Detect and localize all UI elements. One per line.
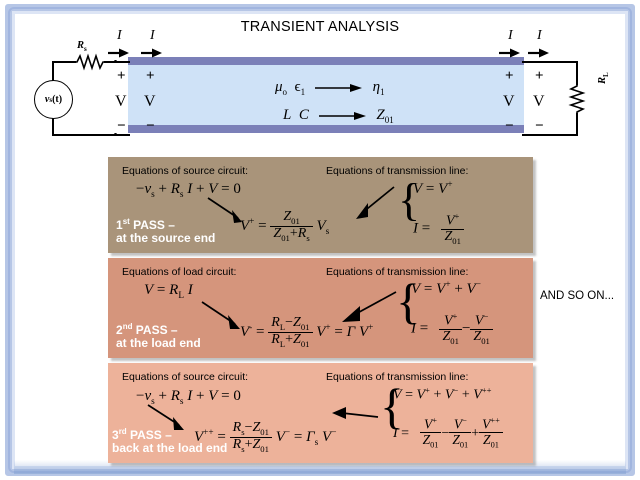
- polarity-plus-load: +: [535, 68, 544, 85]
- slide-canvas: TRANSIENT ANALYSIS Rs vs(t): [0, 0, 640, 480]
- circuit-diagram: Rs vs(t) RL I I I: [0, 0, 640, 155]
- pass-1-result-equation: V+ = Z01 Z01+Rs Vs: [240, 210, 329, 243]
- voltage-label-load: V: [533, 93, 545, 111]
- polarity-minus-load: −: [535, 118, 544, 135]
- current-label-load-2: I: [537, 28, 542, 44]
- voltage-label-line-left: V: [144, 93, 156, 111]
- polarity-minus-source-inner: −: [117, 118, 126, 135]
- pass-2-tl-equation-2: I = V+ Z01 − V− Z01: [411, 312, 493, 346]
- pass-3-header-left: Equations of source circuit:: [122, 371, 248, 383]
- pass-2-tl-equation-1: V = V+ + V−: [411, 280, 481, 298]
- polarity-plus-source-inner: +: [117, 68, 126, 85]
- series-resistor-symbol: [74, 53, 108, 71]
- pass-3-result-equation: V++ = Rs−Z01 Rs+Z01 V− = Γs V−: [194, 421, 336, 454]
- wire-source-to-resistor: [52, 61, 76, 63]
- wire-load-top-vertical: [576, 61, 578, 85]
- pass-1-label: 1st PASS – at the source end: [116, 215, 215, 245]
- pass-1-tl-equation-1: V = V+: [413, 180, 453, 198]
- voltage-label-source-inner: V: [115, 93, 127, 111]
- pass-3-kvl-equation: −vs + Rs I + V = 0: [136, 388, 241, 407]
- pass-1-panel: Equations of source circuit: Equations o…: [108, 157, 533, 253]
- pass-2-panel: Equations of load circuit: Equations of …: [108, 258, 533, 358]
- current-arrow-source-1: [108, 47, 130, 59]
- node-dot-source-top: [114, 60, 117, 63]
- pass-1-kvl-equation: −vs + Rs I + V = 0: [136, 181, 241, 200]
- pass-2-label: 2nd PASS – at the load end: [116, 320, 201, 350]
- wire-line-to-load-top: [522, 61, 578, 63]
- pass-1-tl-equation-2: I = V+ Z01: [413, 212, 464, 246]
- arrow-right-icon: [319, 111, 367, 121]
- medium-parameters-row-2: L C Z01: [283, 107, 394, 125]
- polarity-plus-line-left: +: [146, 68, 155, 85]
- voltage-source-symbol: vs(t): [34, 80, 73, 119]
- current-arrow-load-2: [528, 47, 550, 59]
- pass-1-header-left: Equations of source circuit:: [122, 165, 248, 177]
- current-label-source-2: I: [150, 28, 155, 44]
- pass-1-arrow-right: [354, 187, 396, 221]
- pass-2-header-left: Equations of load circuit:: [122, 266, 236, 278]
- pass-2-result-equation: V- = RL−Z01 RL+Z01 V+ = Γ V+: [240, 316, 373, 349]
- medium-parameters-row-1: μo ϵ1 η1: [275, 79, 385, 97]
- series-resistor-label: Rs: [77, 40, 87, 53]
- pass-3-tl-equation-2: I = V+ Z01 − V− Z01 + V++ Z01: [393, 417, 503, 450]
- load-resistor-symbol: [568, 83, 586, 115]
- voltage-label-line-right: V: [503, 93, 515, 111]
- pass-3-panel: Equations of source circuit: Equations o…: [108, 363, 533, 463]
- polarity-minus-line-left: −: [146, 118, 155, 135]
- current-label-source-1: I: [117, 28, 122, 44]
- wire-resistor-to-line-top: [104, 61, 130, 63]
- pass-3-arrow-right: [330, 407, 380, 423]
- polarity-minus-line-right: −: [505, 118, 514, 135]
- pass-3-tl-equation-1: V = V+ + V− + V++: [393, 385, 492, 404]
- load-resistor-label: RL: [597, 72, 610, 84]
- wire-load-bottom-vertical: [576, 113, 578, 136]
- pass-2-kvl-equation: V = RL I: [144, 282, 193, 301]
- arrow-right-icon: [315, 83, 363, 93]
- wire-line-to-load-bottom: [522, 134, 578, 136]
- transmission-line-bottom-conductor: [128, 125, 524, 133]
- transmission-line-top-conductor: [128, 57, 524, 65]
- polarity-plus-line-right: +: [505, 68, 514, 85]
- and-so-on-text: AND SO ON...: [540, 290, 614, 302]
- current-label-load-1: I: [508, 28, 513, 44]
